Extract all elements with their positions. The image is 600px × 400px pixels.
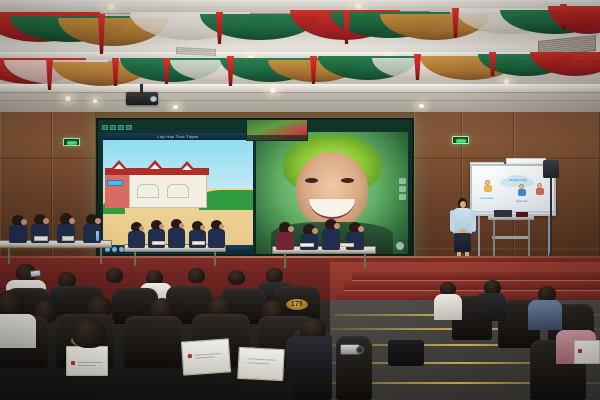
handout-logo [188, 354, 192, 358]
backpack [388, 340, 424, 366]
projector-lens [150, 96, 157, 102]
presenter-arm [471, 210, 476, 232]
handout-text-line [195, 356, 215, 358]
desk-book [300, 243, 314, 247]
audience-shoulders [476, 293, 506, 321]
audience-head [188, 268, 205, 283]
canvas-building-wing [105, 172, 131, 208]
canvas-window [167, 184, 189, 198]
presenter-face [460, 201, 466, 208]
canvas-gable [111, 160, 127, 169]
handout-text-line [247, 362, 269, 364]
student [82, 214, 102, 243]
cart-leg [528, 220, 530, 260]
pip-label-strip [247, 135, 307, 140]
student [276, 222, 295, 250]
handout-logo [578, 349, 582, 353]
desk-leg [134, 252, 136, 266]
laptop-on-cart[interactable] [494, 210, 512, 217]
exit-sign-glow [456, 139, 466, 144]
whiteboard-left-label: Let's learn [480, 196, 494, 200]
student [322, 219, 341, 250]
ceiling-light [91, 99, 99, 103]
seat-number-plaque: 175 [286, 299, 308, 310]
student [208, 220, 226, 248]
auditorium-scene: Lop Hoc Truc Tuyen [0, 0, 600, 400]
canvas-gable [179, 161, 195, 170]
ceiling-light [268, 88, 278, 93]
handout-text-line [247, 358, 275, 360]
exit-sign-right [452, 136, 469, 144]
camcorder-lens [356, 346, 364, 354]
window-title-bar: Lop Hoc Truc Tuyen [103, 133, 253, 140]
theatre-seat[interactable] [124, 316, 182, 368]
canvas-gable [147, 160, 163, 169]
camcorder[interactable] [340, 344, 360, 355]
projector-mount [140, 84, 143, 94]
ceiling-light [352, 2, 365, 9]
video-control-button[interactable] [399, 178, 406, 184]
toolbar-icon[interactable] [126, 125, 132, 130]
canvas-grass [199, 190, 253, 210]
audience-head [106, 268, 123, 283]
desk-book [192, 241, 205, 245]
taskbar-button[interactable] [112, 247, 117, 252]
ceiling [0, 0, 600, 118]
handout[interactable] [574, 340, 600, 364]
ceiling-panel-line [0, 100, 600, 101]
ceiling-light [502, 79, 511, 84]
stage-step [344, 281, 600, 291]
whiteboard-right-label: Have fun [516, 199, 528, 203]
whiteboard-character [482, 180, 492, 193]
handout-logo [71, 361, 75, 365]
whiteboard-character [516, 184, 526, 197]
stage-step [352, 272, 600, 281]
student [168, 219, 186, 248]
audience-shoulders [0, 314, 36, 348]
toolbar-icon[interactable] [110, 125, 116, 130]
ceiling-light [63, 96, 73, 101]
video-controls[interactable] [399, 178, 406, 200]
desk-leg [214, 252, 216, 266]
drape-tassel [216, 12, 223, 44]
video-control-button[interactable] [399, 194, 406, 200]
canvas-sign [107, 180, 123, 186]
exit-sign-left [63, 138, 80, 146]
ceiling-light [417, 104, 426, 108]
stage-edge [0, 256, 600, 258]
exit-sign-glow [67, 141, 77, 146]
handout-text-line [195, 353, 221, 356]
camera-tripod [540, 160, 562, 268]
desk-leg [8, 248, 10, 264]
audience-head [228, 270, 245, 285]
tripod-pole [550, 176, 552, 256]
student [8, 215, 28, 243]
ceiling-light [104, 3, 118, 10]
desk-leg [284, 254, 286, 268]
audience-shoulders [434, 294, 462, 320]
whiteboard-stand-leg [478, 216, 480, 256]
audience-shoulders [286, 336, 332, 376]
desk-book [62, 236, 74, 241]
picture-in-picture-feed[interactable] [246, 118, 308, 141]
cart-leg [493, 220, 495, 260]
video-status-badge [396, 242, 404, 250]
handout[interactable] [66, 346, 108, 376]
canvas-window [137, 184, 159, 198]
handout[interactable] [181, 338, 231, 375]
student [128, 222, 146, 248]
audience-head [72, 318, 106, 348]
av-device [516, 212, 528, 217]
ceiling-light [171, 105, 180, 109]
audience-head [0, 290, 24, 316]
toolbar-icon[interactable] [118, 125, 124, 130]
desk-leg [100, 248, 102, 264]
presenter-arm [450, 210, 455, 232]
desk-leg [364, 254, 366, 268]
handout-text-line [78, 365, 96, 366]
audience-head [266, 268, 283, 283]
audience-shoulders [528, 300, 562, 330]
desk-book [152, 241, 165, 245]
drape-tassel [98, 14, 105, 54]
cart-shelf [492, 236, 530, 239]
whiteboard-heading: English Club [508, 178, 528, 182]
video-control-button[interactable] [399, 186, 406, 192]
desk-book [340, 243, 354, 247]
toolbar-icon[interactable] [102, 125, 108, 130]
handout[interactable] [237, 347, 285, 381]
desk-book [34, 236, 48, 241]
handout-text-line [78, 362, 102, 363]
presenter-skirt [454, 233, 471, 253]
water-bottle [96, 231, 99, 241]
screen-toolbar[interactable] [102, 124, 254, 130]
